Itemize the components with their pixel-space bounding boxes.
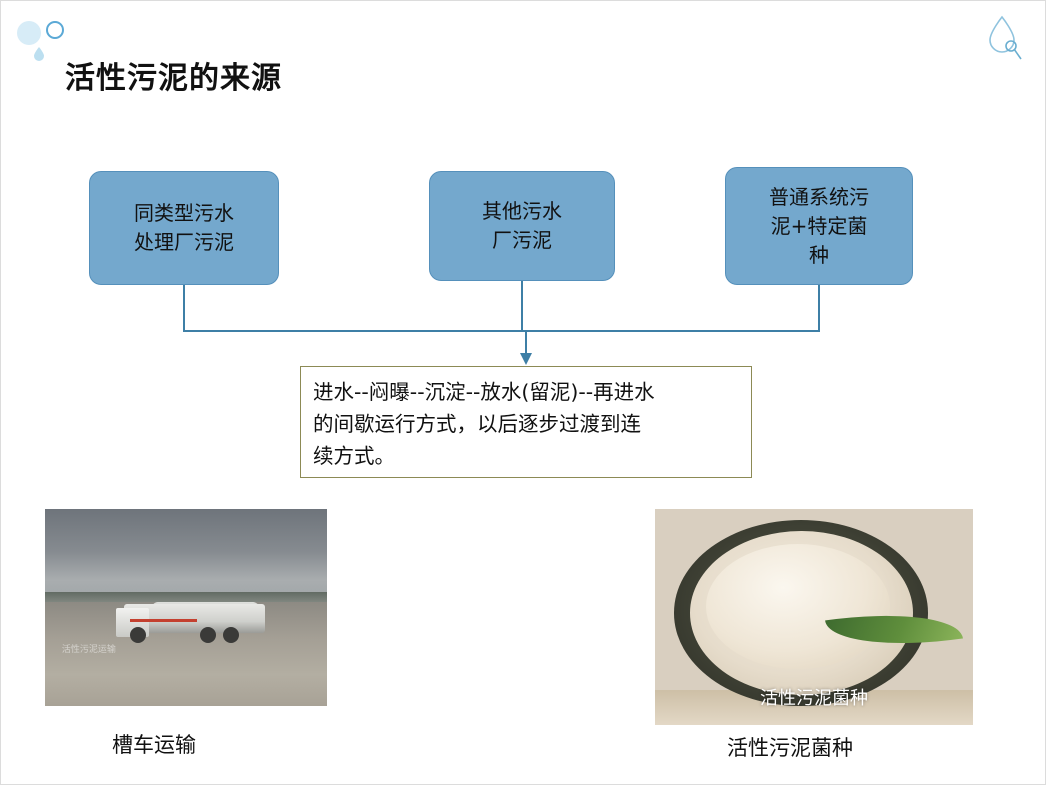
flow-box-common-system-sludge-strain[interactable]: 普通系统污 泥+特定菌 种 bbox=[725, 167, 913, 285]
note-box: 进水--闷曝--沉淀--放水(留泥)--再进水 的间歇运行方式，以后逐步过渡到连… bbox=[300, 366, 752, 478]
flow-box-same-type-plant-sludge[interactable]: 同类型污水 处理厂污泥 bbox=[89, 171, 279, 285]
photo-sky bbox=[45, 509, 327, 604]
flow-box-other-plant-sludge[interactable]: 其他污水 厂污泥 bbox=[429, 171, 615, 281]
page-title: 活性污泥的来源 bbox=[65, 53, 282, 97]
caption-tanker-truck: 槽车运输 bbox=[112, 729, 196, 759]
flow-box-label: 其他污水 厂污泥 bbox=[482, 197, 562, 255]
flow-box-label: 普通系统污 泥+特定菌 种 bbox=[769, 183, 869, 270]
powder-heap bbox=[706, 544, 890, 669]
caption-sludge-strain: 活性污泥菌种 bbox=[727, 732, 853, 762]
photo-tanker-truck: 活性污泥运输 bbox=[45, 509, 327, 706]
truck-wheel bbox=[223, 627, 239, 643]
slide: 活性污泥的来源 同类型污水 处理厂污泥 其他污水 厂污泥 普通系统污 泥+特定菌… bbox=[0, 0, 1046, 785]
droplet-outline-icon bbox=[981, 13, 1027, 69]
flow-box-label: 同类型污水 处理厂污泥 bbox=[134, 199, 234, 257]
photo-watermark: 活性污泥运输 bbox=[62, 642, 116, 655]
arrow-head-icon bbox=[520, 353, 532, 365]
photo-watermark: 活性污泥菌种 bbox=[760, 684, 868, 710]
truck-wheel bbox=[200, 627, 216, 643]
truck-wheel bbox=[130, 627, 146, 643]
photo-sludge-strain-powder: 活性污泥菌种 bbox=[655, 509, 973, 725]
truck-stripe bbox=[130, 619, 198, 622]
